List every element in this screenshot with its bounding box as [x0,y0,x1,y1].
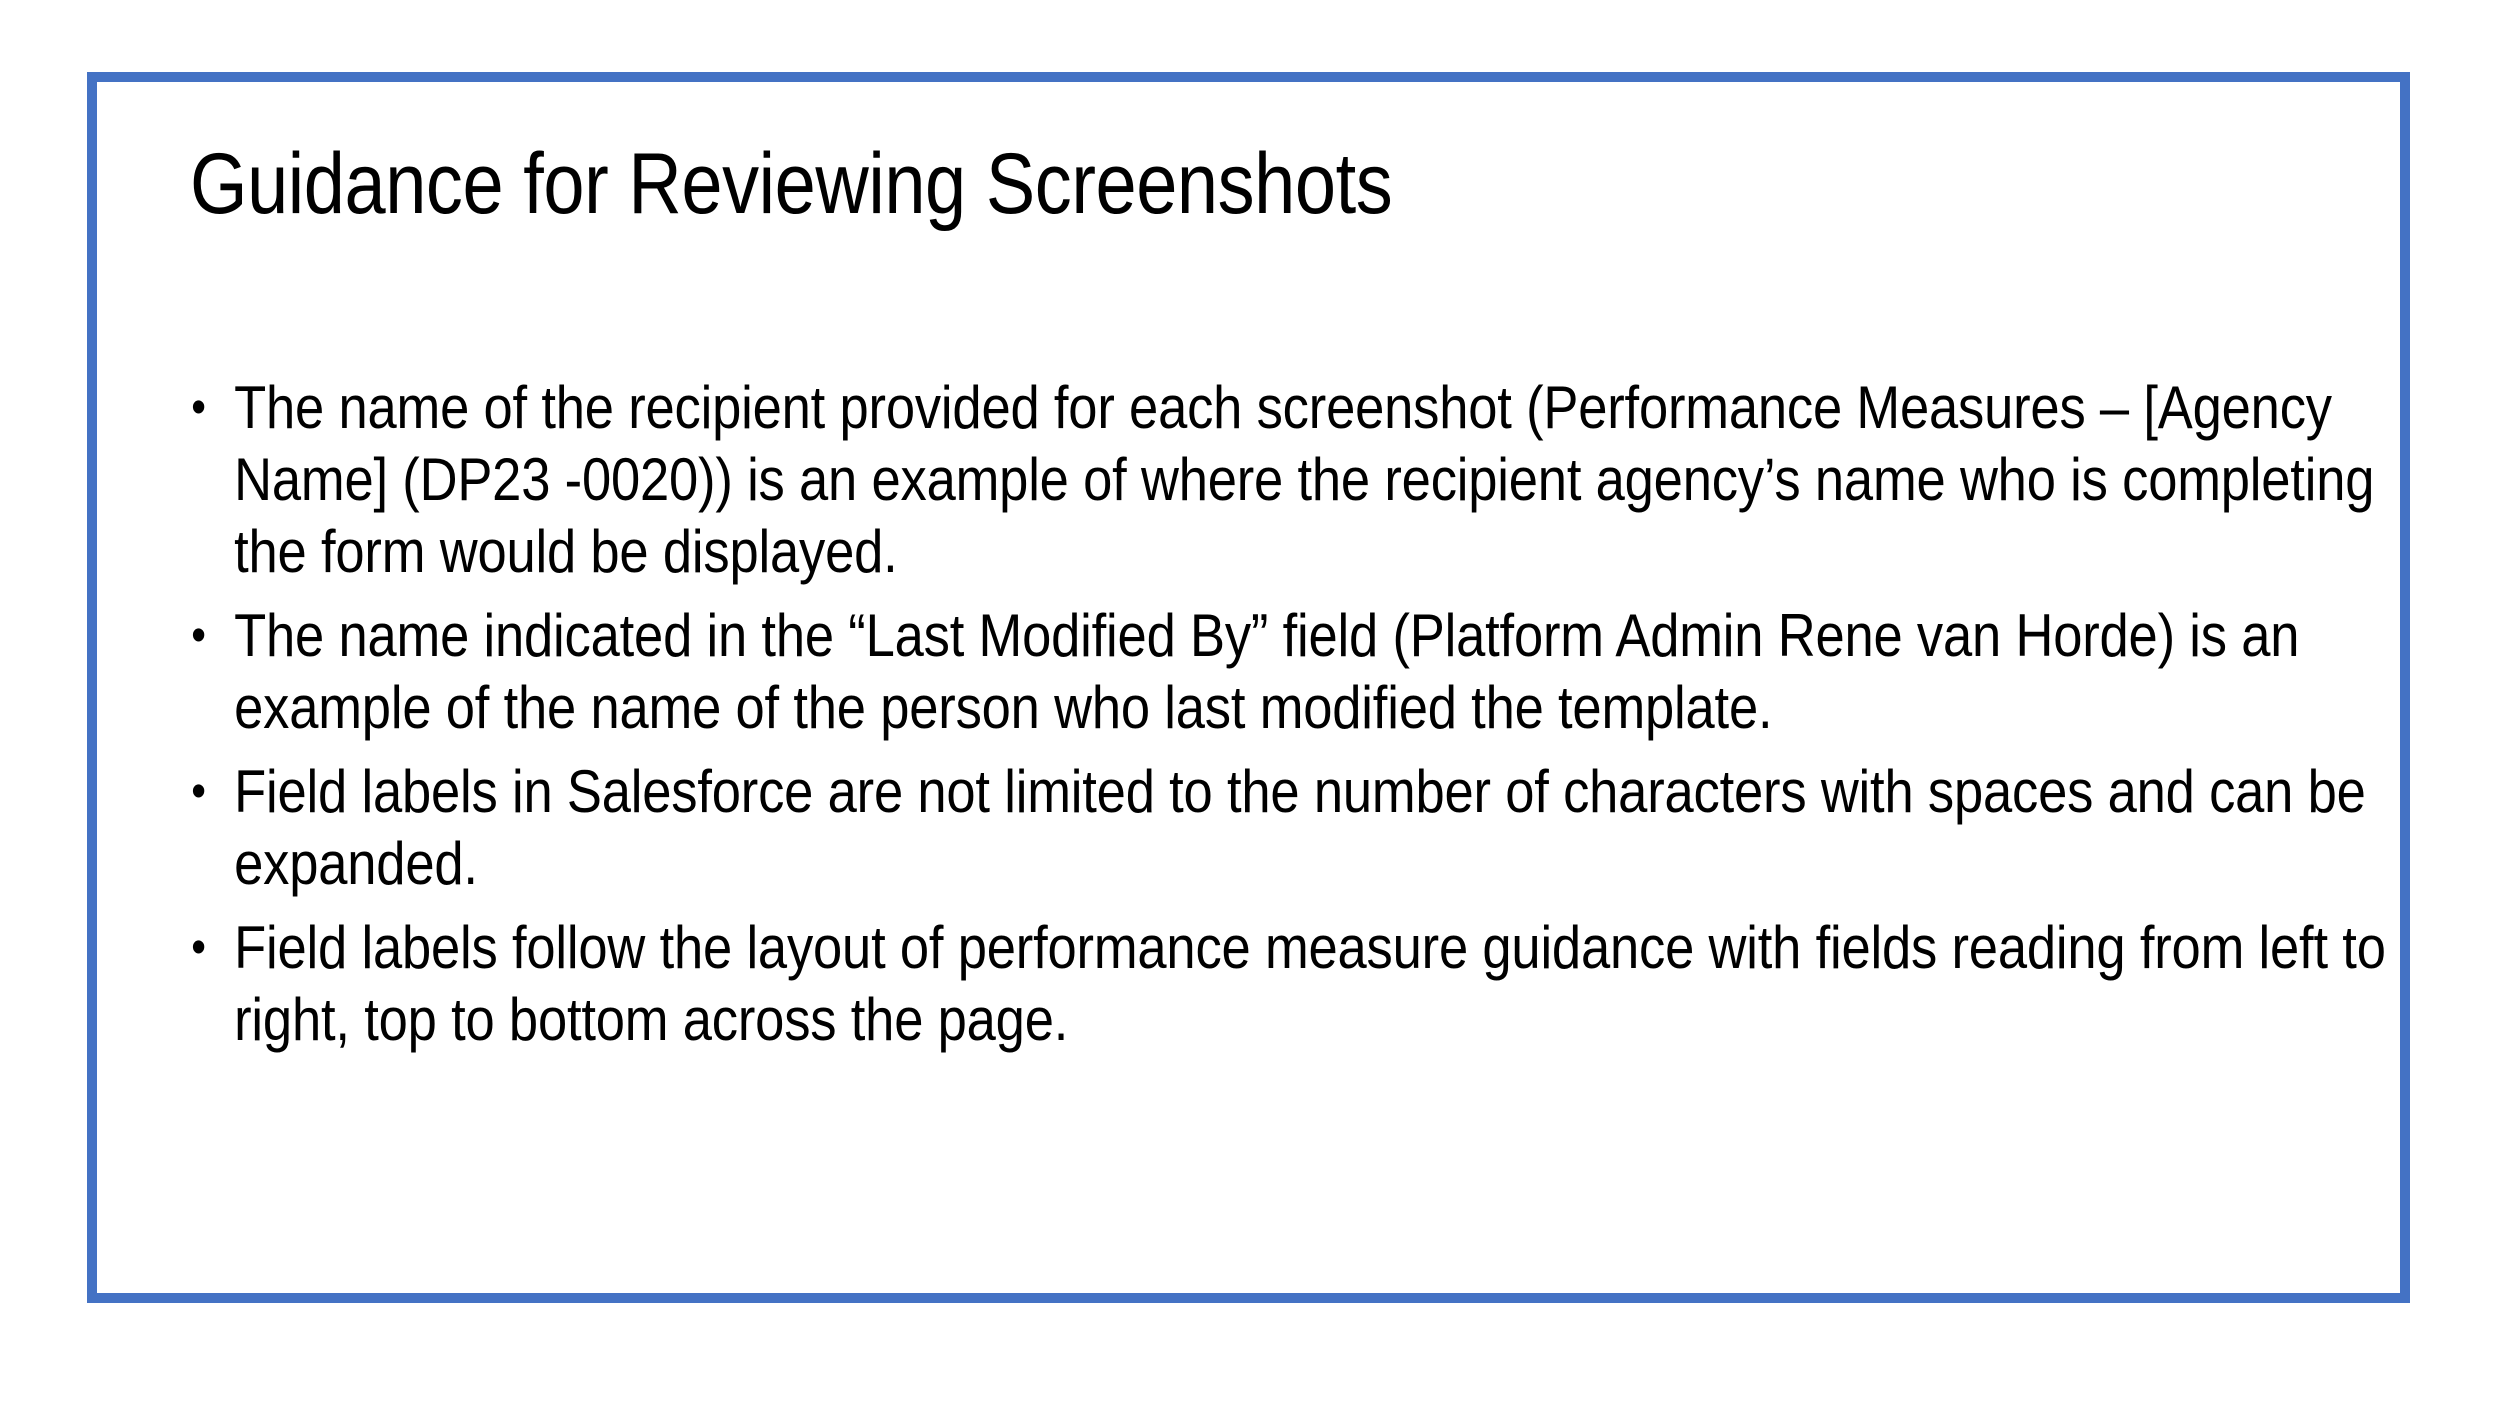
bullet-point-icon: • [191,372,206,444]
bullet-list: • The name of the recipient provided for… [186,372,2366,1056]
list-item: • The name indicated in the “Last Modifi… [186,600,2404,744]
presentation-slide: Guidance for Reviewing Screenshots • The… [0,0,2500,1406]
list-item-text: Field labels follow the layout of perfor… [234,912,2404,1056]
list-item: • Field labels in Salesforce are not lim… [186,756,2404,900]
list-item-text: The name of the recipient provided for e… [234,372,2404,588]
page-title: Guidance for Reviewing Screenshots [190,132,1996,236]
bullet-point-icon: • [191,912,206,984]
list-item-text: Field labels in Salesforce are not limit… [234,756,2404,900]
bullet-point-icon: • [191,756,206,828]
bullet-point-icon: • [191,600,206,672]
list-item: • Field labels follow the layout of perf… [186,912,2404,1056]
list-item-text: The name indicated in the “Last Modified… [234,600,2404,744]
list-item: • The name of the recipient provided for… [186,372,2404,588]
